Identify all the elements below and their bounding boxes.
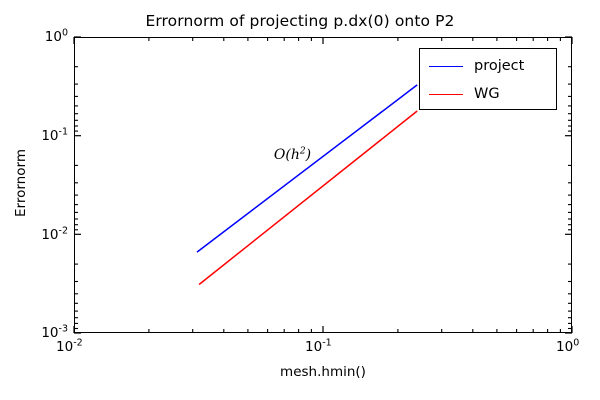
x-tick-label-0: 10-2 <box>56 339 83 355</box>
order-annotation-tail: ) <box>306 147 311 163</box>
legend[interactable]: project WG <box>419 48 557 110</box>
legend-label-project: project <box>474 58 524 74</box>
x-tick-label-1: 10-1 <box>305 339 332 355</box>
legend-entry-project[interactable]: project <box>420 52 558 80</box>
x-axis-label: mesh.hmin() <box>74 364 572 380</box>
y-tick-label-3: 10-3 <box>14 325 68 341</box>
y-tick-label-0: 100 <box>14 29 68 45</box>
order-annotation-head: O(h <box>274 147 300 163</box>
order-annotation: O(h2) <box>274 147 311 163</box>
legend-label-wg: WG <box>474 86 500 102</box>
chart-title: Errornorm of projecting p.dx(0) onto P2 <box>0 12 600 30</box>
y-axis-label: Errornorm <box>13 133 29 233</box>
legend-swatch-wg <box>429 94 463 95</box>
legend-swatch-project <box>429 66 463 67</box>
x-tick-label-2: 100 <box>556 339 579 355</box>
legend-entry-wg[interactable]: WG <box>420 80 558 108</box>
figure-canvas: Errornorm of projecting p.dx(0) onto P2 <box>0 0 600 400</box>
